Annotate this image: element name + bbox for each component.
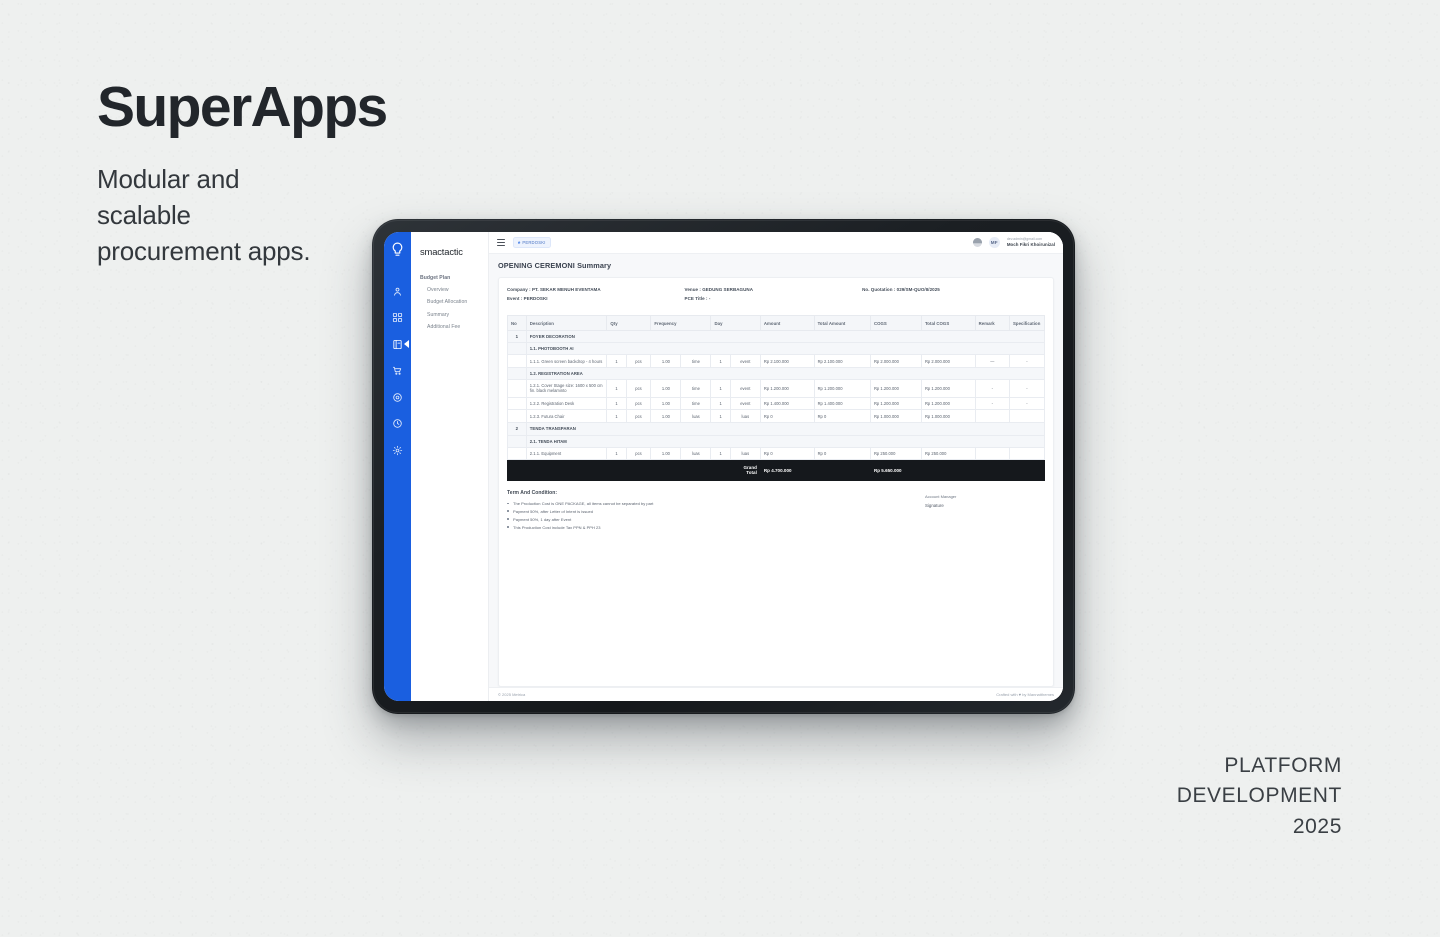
meta-col-quotation: No. Quotation : 029/SM-QUO/II/2025 [862,287,1045,305]
item-total-amount: Rp 2.100.000 [814,355,870,368]
table-header-row: No Description Qty Frequency Day Amount … [508,316,1045,330]
sidebar-item-summary[interactable]: Summary [411,305,488,317]
table-row[interactable]: 1.2.2. Registration Desk1pcs1.00time1eve… [508,397,1045,410]
footer-copyright: © 2025 Metrica [498,692,525,697]
item-description: 2.1.1. Equipment [526,447,607,460]
item-qty: 1 [607,410,626,423]
app-footer: © 2025 Metrica Crafted with ♥ by Mannatt… [489,687,1063,701]
item-cogs: Rp 250.000 [870,447,921,460]
promo-block: SuperApps Modular and scalable procureme… [97,78,387,269]
grand-total-label: Grand Total [730,460,760,481]
promo-subtitle: Modular and scalable procurement apps. [97,162,327,270]
th-cogs: COGS [870,316,921,330]
th-amount: Amount [760,316,814,330]
subgroup-no [508,367,527,379]
page-title: OPENING CEREMONI Summary [498,261,1054,270]
item-specification [1009,410,1044,423]
group-no: 2 [508,423,527,435]
item-day-unit: luas [730,410,760,423]
table-row[interactable]: 1.1.1. Green screen backdrop - 4 hours1p… [508,355,1045,368]
item-cogs: Rp 1.200.000 [870,379,921,397]
gear-icon [391,443,405,457]
rail-item-monitoring[interactable] [391,390,405,417]
tablet-screen: smactactic Budget Plan Overview Budget A… [384,232,1063,701]
item-specification: - [1009,379,1044,397]
user-menu[interactable]: dev.admin@gmail.com Moch Fikri Khoiruniz… [1007,237,1055,247]
item-no [508,379,527,397]
th-frequency: Frequency [651,316,711,330]
subgroup-no [508,343,527,355]
item-total-cogs: Rp 2.000.000 [921,355,975,368]
nav-group-budget-plan: Budget Plan [411,257,488,281]
item-day: 1 [711,397,730,410]
lightbulb-logo-icon[interactable] [389,241,406,258]
item-qty: 1 [607,397,626,410]
clock-icon [391,417,405,431]
th-total-cogs: Total COGS [921,316,975,330]
group-label: FOYER DECORATION [526,330,1044,342]
budget-plan-table: No Description Qty Frequency Day Amount … [507,315,1045,481]
content-area: OPENING CEREMONI Summary Company : PT. S… [489,254,1063,687]
table-row[interactable]: 2.1.1. Equipment1pcs1.00luas1luasRp 0Rp … [508,447,1045,460]
th-description: Description [526,316,607,330]
brand-name: smactactic [411,242,488,257]
th-day: Day [711,316,760,330]
grand-total-spacer5 [1009,460,1044,481]
item-frequency: 1.00 [651,379,681,397]
signature-block: Account Manager Signature [925,490,1045,532]
meta-quotation-no: No. Quotation : 029/SM-QUO/II/2025 [862,287,1045,292]
user-name: Moch Fikri Khoirunizal [1007,242,1055,248]
item-qty-unit: pcs [626,355,651,368]
subgroup-no [508,435,527,447]
item-amount: Rp 1.400.000 [760,397,814,410]
item-qty: 1 [607,355,626,368]
item-remark: - [975,397,1009,410]
table-group-row: 2TENDA TRANSPARAN [508,423,1045,435]
subgroup-label: 1.2. REGISTRATION AREA [526,367,1044,379]
sidebar-item-budget-allocation[interactable]: Budget Allocation [411,293,488,305]
item-day: 1 [711,410,730,423]
item-total-amount: Rp 1.200.000 [814,379,870,397]
subgroup-label: 1.1. PHOTOBOOTH AI [526,343,1044,355]
main-area: e PERDOSKI MF dev.admin@gmail.com Moch F… [489,232,1063,701]
terms-title: Term And Condition: [507,490,925,496]
group-label: TENDA TRANSPARAN [526,423,1044,435]
signature-label: Signature [925,503,1045,508]
item-day: 1 [711,355,730,368]
group-no: 1 [508,330,527,342]
subgroup-label: 2.1. TENDA HITAM [526,435,1044,447]
badge-prefix-icon: e [518,240,520,245]
sidebar-item-additional-fee[interactable]: Additional Fee [411,318,488,330]
item-remark [975,410,1009,423]
table-row[interactable]: 1.2.3. Futura Chair1pcs1.00luas1luasRp 0… [508,410,1045,423]
item-frequency: 1.00 [651,397,681,410]
item-qty: 1 [607,379,626,397]
sidebar-item-overview[interactable]: Overview [411,281,488,293]
table-subgroup-row: 2.1. TENDA HITAM [508,435,1045,447]
nav-sidebar: smactactic Budget Plan Overview Budget A… [411,232,489,701]
item-amount: Rp 1.200.000 [760,379,814,397]
item-description: 1.2.3. Futura Chair [526,410,607,423]
item-remark [975,447,1009,460]
item-remark: — [975,355,1009,368]
eye-icon [391,390,405,404]
meta-col-venue: Venue : GEDUNG SERBAGUNA PCE Title : - [685,287,863,305]
top-bar: e PERDOSKI MF dev.admin@gmail.com Moch F… [489,232,1063,254]
signature-role: Account Manager [925,494,1045,499]
item-qty-unit: pcs [626,379,651,397]
item-no [508,355,527,368]
avatar[interactable]: MF [989,237,1000,248]
item-description: 1.1.1. Green screen backdrop - 4 hours [526,355,607,368]
grand-total-spacer4 [975,460,1009,481]
item-total-amount: Rp 0 [814,447,870,460]
terms-left: Term And Condition: The Production Cost … [507,490,925,532]
rail-item-settings[interactable] [391,443,405,470]
item-qty: 1 [607,447,626,460]
table-foot: Grand Total Rp 4.700.000 Rp 5.650.000 [508,460,1045,481]
rail-item-users[interactable] [391,284,405,311]
item-frequency: 1.00 [651,410,681,423]
terms-section: Term And Condition: The Production Cost … [507,490,1045,532]
item-day-unit: luas [730,447,760,460]
table-body: 1FOYER DECORATION1.1. PHOTOBOOTH AI1.1.1… [508,330,1045,460]
item-specification [1009,447,1044,460]
user-icon [391,284,405,298]
item-total-amount: Rp 1.400.000 [814,397,870,410]
th-remark: Remark [975,316,1009,330]
item-cogs: Rp 2.000.000 [870,355,921,368]
item-amount: Rp 0 [760,410,814,423]
book-icon [391,337,405,351]
item-frequency-unit: time [681,355,711,368]
caption-line-year: 2025 [1177,812,1342,842]
item-total-cogs: Rp 1.000.000 [921,410,975,423]
grand-total-row: Grand Total Rp 4.700.000 Rp 5.650.000 [508,460,1045,481]
grand-total-cogs: Rp 5.650.000 [870,460,921,481]
caption-line-platform: PLATFORM [1177,751,1342,781]
item-description: 1.2.1. Cover Stage size: 1600 x 500 cm f… [526,379,607,397]
top-bar-right: MF dev.admin@gmail.com Moch Fikri Khoiru… [973,237,1055,248]
item-total-amount: Rp 0 [814,410,870,423]
item-frequency: 1.00 [651,355,681,368]
item-day-unit: event [730,397,760,410]
item-no [508,447,527,460]
rail-item-procurement[interactable] [391,364,405,391]
hamburger-menu-icon[interactable] [497,239,505,245]
item-frequency-unit: time [681,397,711,410]
item-specification: - [1009,397,1044,410]
item-remark: - [975,379,1009,397]
breadcrumb-label: PERDOSKI [522,240,545,245]
promo-title: SuperApps [97,78,387,138]
grand-total-amount: Rp 4.700.000 [760,460,814,481]
terms-list: The Production Cost is ONE PACKAGE, all … [507,501,925,530]
th-specification: Specification [1009,316,1044,330]
caption-block: PLATFORM DEVELOPMENT 2025 [1177,751,1342,842]
rail-item-dashboard[interactable] [391,311,405,338]
item-qty-unit: pcs [626,410,651,423]
item-total-cogs: Rp 1.200.000 [921,397,975,410]
rail-item-budget-plan[interactable] [391,337,405,364]
icon-rail [384,232,411,701]
tablet-device-mockup: smactactic Budget Plan Overview Budget A… [372,219,1075,714]
item-qty-unit: pcs [626,447,651,460]
th-qty: Qty [607,316,651,330]
breadcrumb-event-badge[interactable]: e PERDOSKI [513,237,551,247]
language-flag-icon[interactable] [973,238,982,247]
table-row[interactable]: 1.2.1. Cover Stage size: 1600 x 500 cm f… [508,379,1045,397]
terms-item: Payment 50%, after Letter of Intent is i… [507,509,925,514]
terms-item: The Production Cost is ONE PACKAGE, all … [507,501,925,506]
terms-item: Payment 50%, 1 day after Event [507,517,925,522]
th-total-amount: Total Amount [814,316,870,330]
footer-credit: Crafted with ♥ by Mannatthemes [996,692,1054,697]
item-day-unit: event [730,379,760,397]
item-amount: Rp 2.100.000 [760,355,814,368]
meta-col-company: Company : PT. SEKAR MENUH EVENTAMA Event… [507,287,685,305]
grid-dashboard-icon [391,311,405,325]
table-group-row: 1FOYER DECORATION [508,330,1045,342]
item-cogs: Rp 1.000.000 [870,410,921,423]
total-spacer [508,460,731,481]
item-no [508,410,527,423]
item-day: 1 [711,447,730,460]
table-subgroup-row: 1.1. PHOTOBOOTH AI [508,343,1045,355]
item-frequency-unit: luas [681,410,711,423]
meta-venue: Venue : GEDUNG SERBAGUNA [685,287,863,292]
item-amount: Rp 0 [760,447,814,460]
item-specification: - [1009,355,1044,368]
footer-credit-suffix: by Mannatthemes [1021,692,1054,697]
item-total-cogs: Rp 1.200.000 [921,379,975,397]
item-day-unit: event [730,355,760,368]
caption-line-development: DEVELOPMENT [1177,781,1342,811]
summary-card: Company : PT. SEKAR MENUH EVENTAMA Event… [498,277,1054,687]
item-total-cogs: Rp 250.000 [921,447,975,460]
meta-company: Company : PT. SEKAR MENUH EVENTAMA [507,287,685,292]
grand-total-spacer2 [814,460,870,481]
item-description: 1.2.2. Registration Desk [526,397,607,410]
terms-item: This Production Cost include Tax PPN & P… [507,525,925,530]
item-frequency-unit: time [681,379,711,397]
rail-item-history[interactable] [391,417,405,444]
table-subgroup-row: 1.2. REGISTRATION AREA [508,367,1045,379]
cart-icon [391,364,405,378]
grand-total-spacer3 [921,460,975,481]
meta-event: Event : PERDOSKI [507,296,685,301]
item-day: 1 [711,379,730,397]
item-frequency-unit: luas [681,447,711,460]
footer-credit-prefix: Crafted with [996,692,1018,697]
th-no: No [508,316,527,330]
quotation-meta: Company : PT. SEKAR MENUH EVENTAMA Event… [507,287,1045,305]
item-cogs: Rp 1.200.000 [870,397,921,410]
item-qty-unit: pcs [626,397,651,410]
item-no [508,397,527,410]
meta-pce-title: PCE Title : - [685,296,863,301]
item-frequency: 1.00 [651,447,681,460]
